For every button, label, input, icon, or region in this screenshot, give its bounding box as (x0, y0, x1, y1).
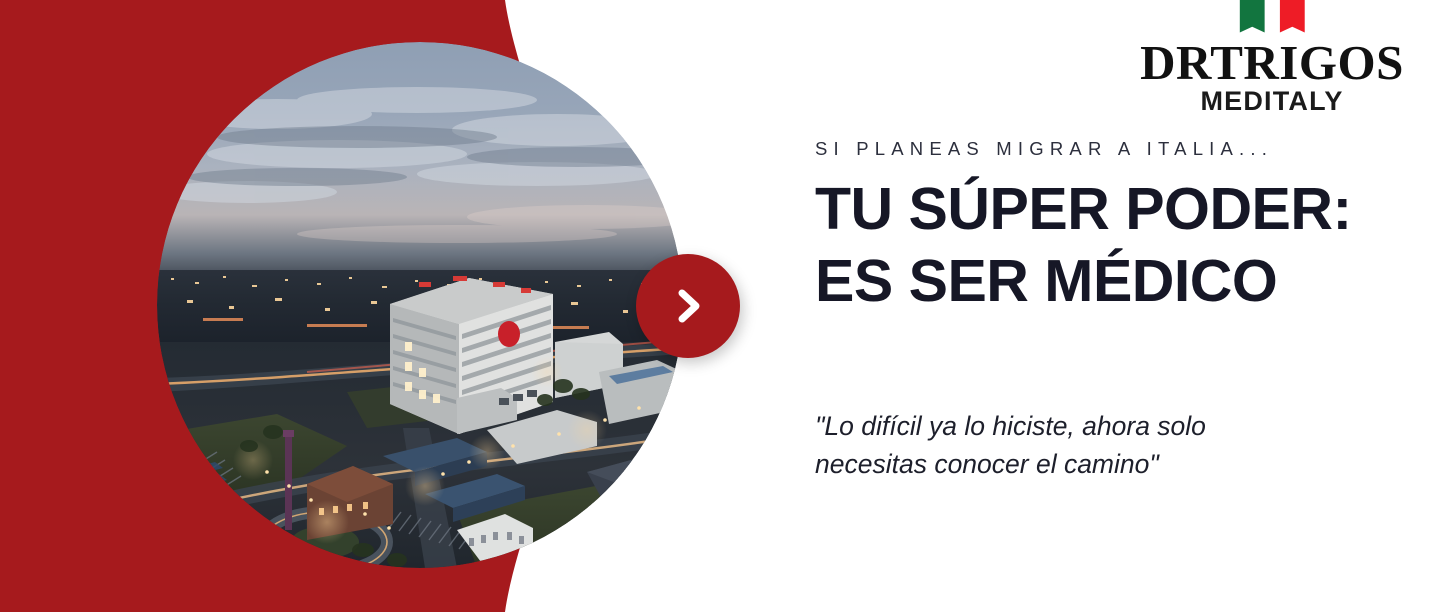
next-arrow-button[interactable] (636, 254, 740, 358)
logo-subtitle: MEDITALY (1122, 87, 1422, 115)
promo-banner: DRTRIGOS MEDITALY SI PLANEAS MIGRAR A IT… (0, 0, 1440, 612)
chevron-right-icon (665, 283, 711, 329)
page-title: TU SÚPER PODER: ES SER MÉDICO (815, 174, 1375, 318)
circular-cityscape-photo (157, 42, 683, 568)
banner-content: SI PLANEAS MIGRAR A ITALIA... TU SÚPER P… (815, 138, 1375, 318)
eyebrow-text: SI PLANEAS MIGRAR A ITALIA... (815, 138, 1375, 160)
headline-line-1: TU SÚPER PODER: (815, 174, 1375, 246)
brand-logo: DRTRIGOS MEDITALY (1122, 0, 1422, 115)
headline-line-2: ES SER MÉDICO (815, 246, 1375, 318)
quote-text: "Lo difícil ya lo hiciste, ahora solo ne… (815, 408, 1255, 483)
logo-wordmark: DRTRIGOS (1122, 40, 1422, 85)
